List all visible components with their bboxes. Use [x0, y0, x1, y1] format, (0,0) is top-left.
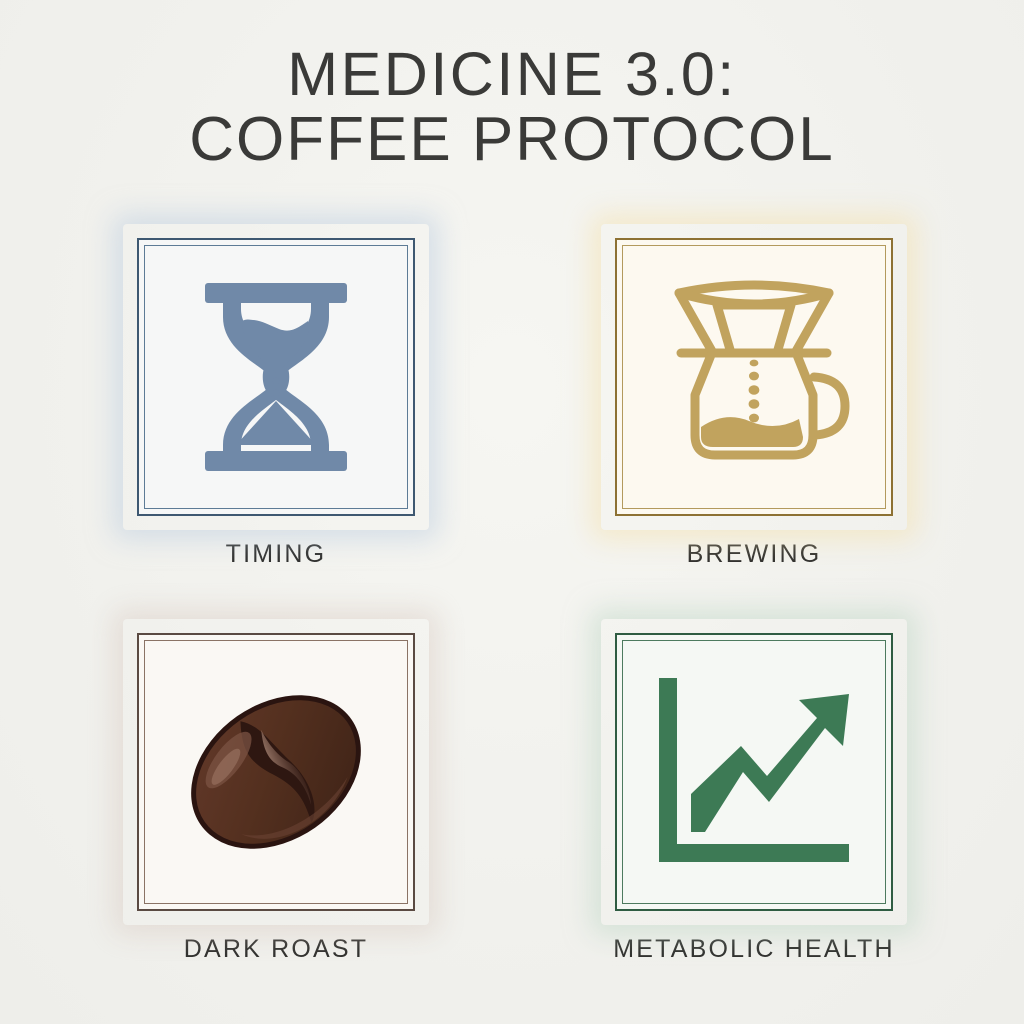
rising-chart-arrow-icon	[649, 672, 859, 872]
title-line-2: COFFEE PROTOCOL	[0, 107, 1024, 173]
card-dark-roast-label: DARK ROAST	[184, 935, 369, 964]
card-dark-roast[interactable]: DARK ROAST	[120, 633, 432, 968]
card-metabolic-health-frame	[615, 633, 893, 911]
poster-canvas: MEDICINE 3.0: COFFEE PROTOCOL	[0, 0, 1024, 1024]
page-title: MEDICINE 3.0: COFFEE PROTOCOL	[0, 42, 1024, 172]
card-metabolic-health[interactable]: METABOLIC HEALTH	[598, 633, 910, 968]
card-brewing[interactable]: BREWING	[598, 238, 910, 573]
pour-over-brewer-icon	[649, 275, 859, 480]
card-timing-label: TIMING	[226, 540, 327, 569]
card-brewing-label: BREWING	[687, 540, 822, 569]
hourglass-icon	[181, 277, 371, 477]
coffee-bean-icon	[176, 677, 376, 867]
card-dark-roast-frame	[137, 633, 415, 911]
card-timing[interactable]: TIMING	[120, 238, 432, 573]
card-timing-frame	[137, 238, 415, 516]
title-line-1: MEDICINE 3.0:	[0, 42, 1024, 107]
card-metabolic-health-label: METABOLIC HEALTH	[613, 935, 895, 964]
icon-grid: TIMING	[120, 238, 910, 968]
card-brewing-frame	[615, 238, 893, 516]
